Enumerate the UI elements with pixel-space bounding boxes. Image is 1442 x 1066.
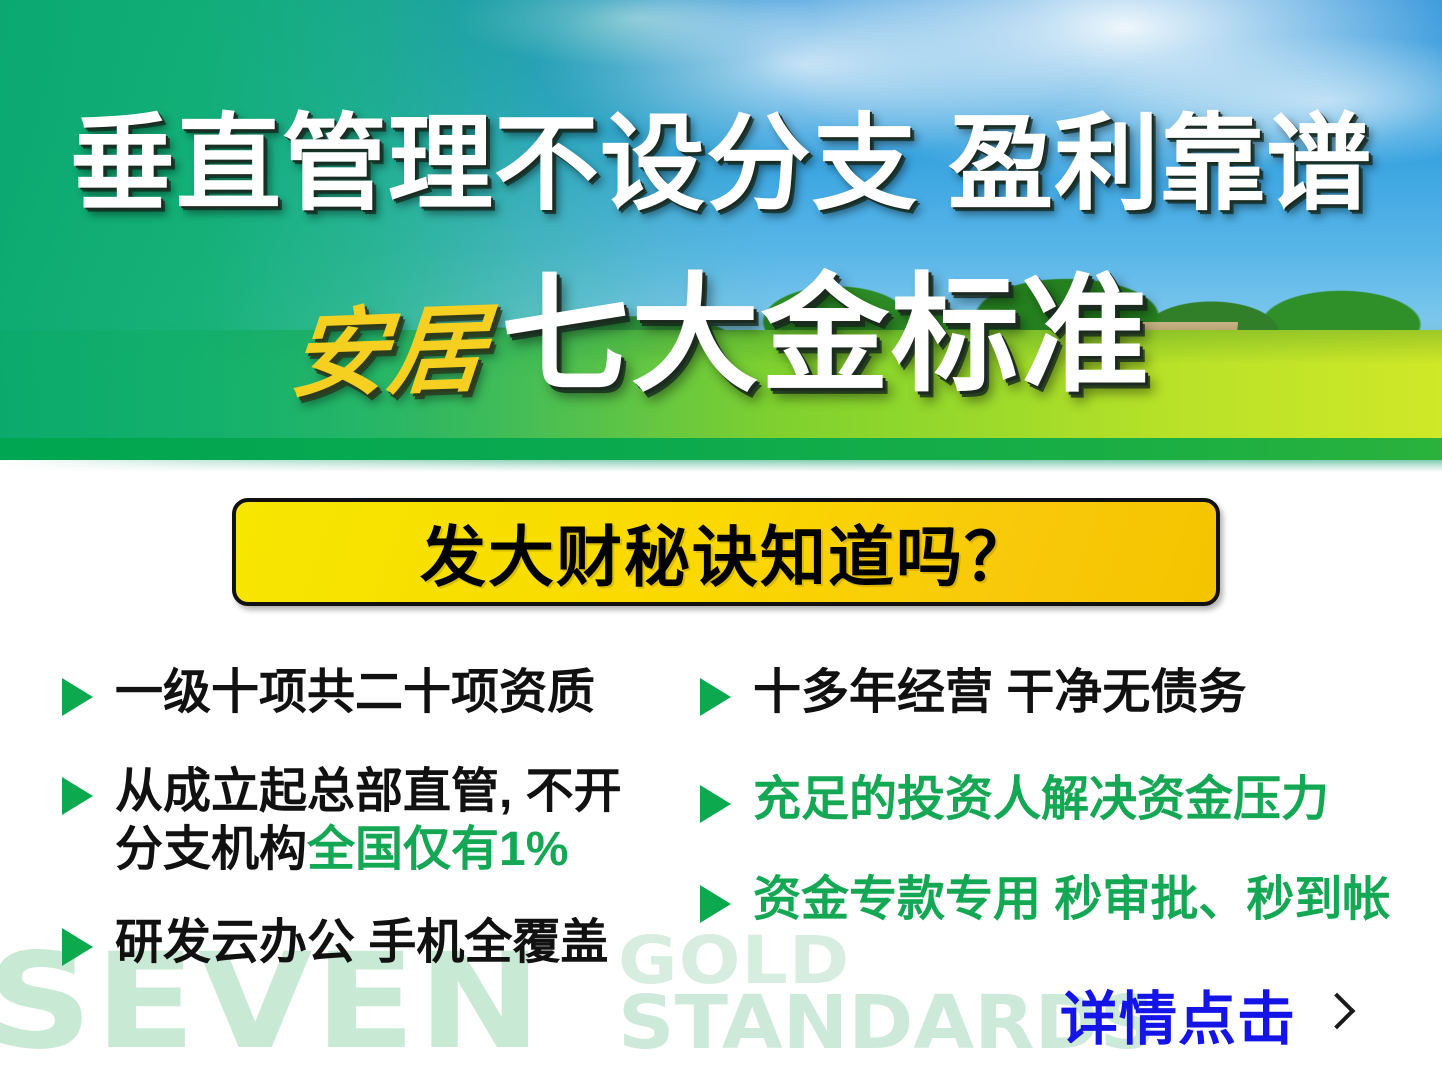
feature-line-part: 分支机构 [115, 823, 307, 876]
hero-headline-primary: 垂直管理不设分支 盈利靠谱 [0, 112, 1442, 217]
feature-item-qualifications: 一级十项共二十项资质 [62, 664, 682, 723]
feature-text: 研发云办公 手机全覆盖 [115, 914, 608, 973]
chevron-right-icon [1322, 991, 1350, 1037]
triangle-right-icon [62, 678, 93, 716]
hero-headline-highlight: 七大金标准 [501, 264, 1151, 407]
features-column-left: 一级十项共二十项资质 从成立起总部直管, 不开 分支机构全国仅有1% 研发云办公… [62, 664, 682, 998]
hero-section: 垂直管理不设分支 盈利靠谱 安居七大金标准 [0, 0, 1442, 460]
hero-bottom-green-bar [0, 438, 1442, 460]
highlight-question-banner[interactable]: 发大财秘诀知道吗？ [232, 498, 1220, 606]
hero-brand-name: 安居 [287, 301, 491, 404]
triangle-right-icon [700, 885, 731, 923]
hero-fade-strip [0, 460, 1442, 472]
hero-headline-secondary: 安居七大金标准 [0, 272, 1442, 401]
feature-line-highlight: 全国仅有1% [307, 823, 568, 876]
feature-line: 从成立起总部直管, 不开 [115, 763, 622, 822]
feature-line: 分支机构全国仅有1% [115, 821, 622, 880]
features-column-right: 十多年经营 干净无债务 充足的投资人解决资金压力 资金专款专用 秒审批、秒到帐 [700, 664, 1400, 956]
feature-text: 资金专款专用 秒审批、秒到帐 [753, 871, 1390, 930]
promo-banner-page: 垂直管理不设分支 盈利靠谱 安居七大金标准 发大财秘诀知道吗？ SEVEN GO… [0, 0, 1442, 1066]
details-cta-label: 详情点击 [1060, 972, 1296, 1056]
feature-item-headquarters-direct: 从成立起总部直管, 不开 分支机构全国仅有1% [62, 763, 682, 880]
feature-text: 从成立起总部直管, 不开 分支机构全国仅有1% [115, 763, 622, 880]
feature-text: 一级十项共二十项资质 [115, 664, 595, 723]
feature-item-investors: 充足的投资人解决资金压力 [700, 771, 1400, 830]
feature-line: 十多年经营 干净无债务 [753, 664, 1246, 723]
feature-line: 研发云办公 手机全覆盖 [115, 914, 608, 973]
triangle-right-icon [62, 777, 93, 815]
triangle-right-icon [700, 785, 731, 823]
triangle-right-icon [62, 928, 93, 966]
highlight-question-text: 发大财秘诀知道吗？ [420, 504, 1032, 600]
feature-item-years-operating: 十多年经营 干净无债务 [700, 664, 1400, 723]
features-section: 一级十项共二十项资质 从成立起总部直管, 不开 分支机构全国仅有1% 研发云办公… [0, 650, 1442, 1010]
triangle-right-icon [700, 678, 731, 716]
feature-item-cloud-office: 研发云办公 手机全覆盖 [62, 914, 682, 973]
feature-line: 资金专款专用 秒审批、秒到帐 [753, 871, 1390, 930]
feature-item-dedicated-funds: 资金专款专用 秒审批、秒到帐 [700, 871, 1400, 930]
feature-text: 充足的投资人解决资金压力 [753, 771, 1329, 830]
feature-line: 充足的投资人解决资金压力 [753, 771, 1329, 830]
feature-text: 十多年经营 干净无债务 [753, 664, 1246, 723]
details-cta-link[interactable]: 详情点击 [1060, 972, 1350, 1056]
feature-line: 一级十项共二十项资质 [115, 664, 595, 723]
